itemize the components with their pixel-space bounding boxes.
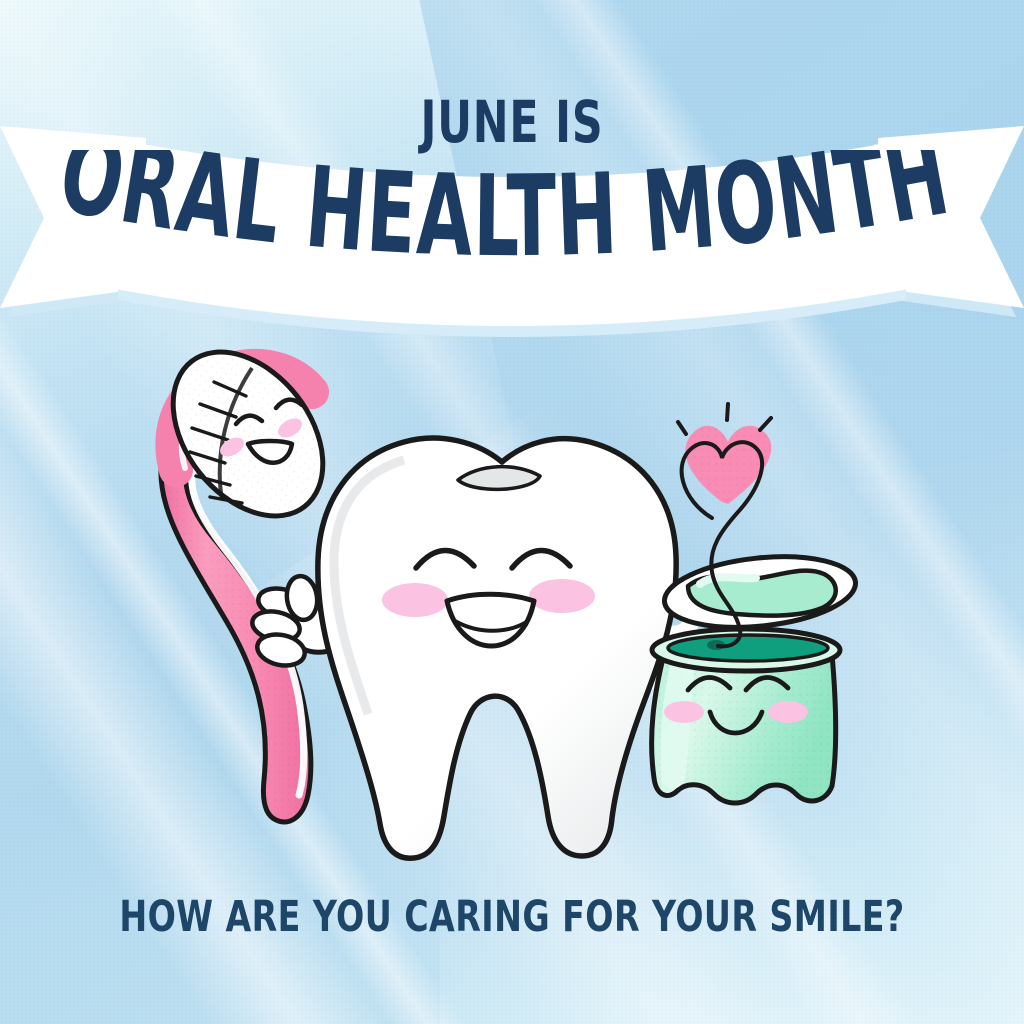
- tooth-cheek-left: [382, 583, 448, 617]
- illustration-group: [0, 0, 1024, 1024]
- tooth-body: [318, 438, 676, 858]
- tooth-cheek-right: [529, 579, 595, 613]
- floss-character: [652, 404, 859, 803]
- floss-opening: [668, 635, 828, 661]
- floss-cheek-right: [768, 701, 808, 723]
- tooth-character: [318, 438, 676, 858]
- oral-health-month-poster: JUNE IS ORAL HEALTH MONTH: [0, 0, 1024, 1024]
- floss-cheek-left: [664, 701, 704, 723]
- footer-question: HOW ARE YOU CARING FOR YOUR SMILE?: [72, 892, 953, 942]
- floss-lid: [661, 548, 859, 636]
